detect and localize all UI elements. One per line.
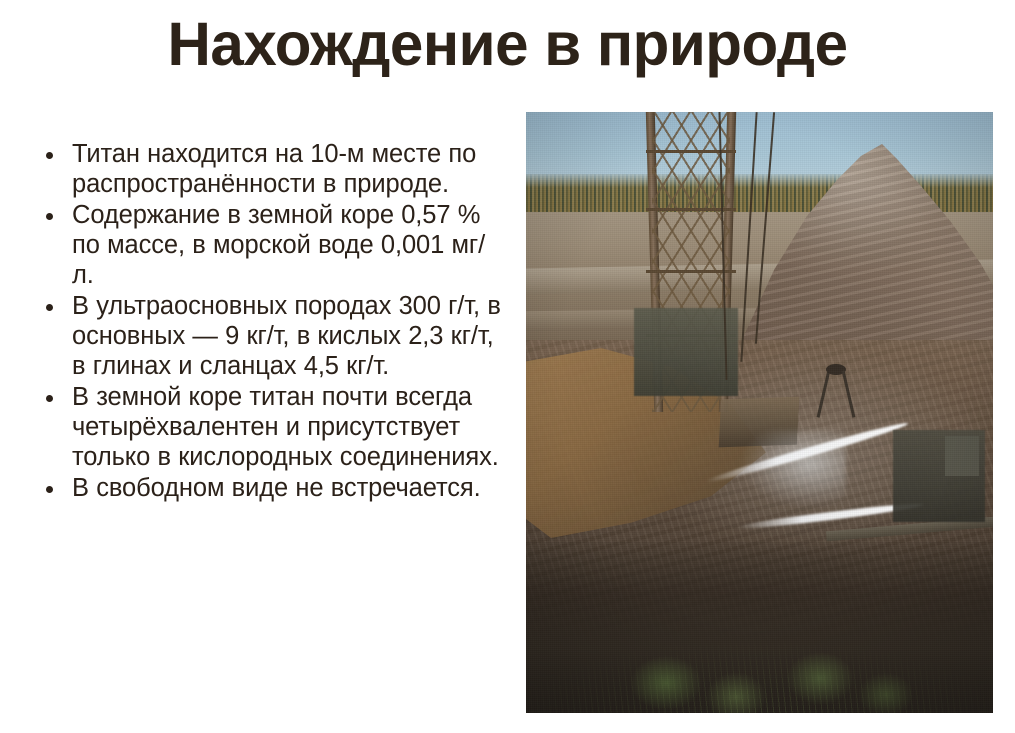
photo-tripod-mast <box>814 364 858 416</box>
list-item-text: В ультраосновных породах 300 г/т, в осно… <box>72 291 504 381</box>
bullet-marker-icon <box>34 382 72 412</box>
slide: Нахождение в природе Титан находится на … <box>0 0 1015 733</box>
list-item: В земной коре титан почти всегда четырёх… <box>34 382 504 472</box>
list-item-text: В земной коре титан почти всегда четырёх… <box>72 382 504 472</box>
list-item-text: В свободном виде не встречается. <box>72 473 504 503</box>
photo-monitor-cabin <box>945 436 979 476</box>
bullet-marker-icon <box>34 139 72 169</box>
bullet-marker-icon <box>34 473 72 503</box>
bullet-marker-icon <box>34 200 72 230</box>
quarry-photo <box>526 112 993 713</box>
list-item-text: Титан находится на 10-м месте по распрос… <box>72 139 504 199</box>
page-title: Нахождение в природе <box>8 8 1008 80</box>
list-item: В свободном виде не встречается. <box>34 473 504 503</box>
bullet-list: Титан находится на 10-м месте по распрос… <box>34 139 504 504</box>
list-item: В ультраосновных породах 300 г/т, в осно… <box>34 291 504 381</box>
list-item-text: Содержание в земной коре 0,57 % по массе… <box>72 200 504 290</box>
photo-grass-blades <box>526 593 993 713</box>
list-item: Титан находится на 10-м месте по распрос… <box>34 139 504 199</box>
list-item: Содержание в земной коре 0,57 % по массе… <box>34 200 504 290</box>
bullet-marker-icon <box>34 291 72 321</box>
photo-excavator-cab <box>634 308 738 396</box>
